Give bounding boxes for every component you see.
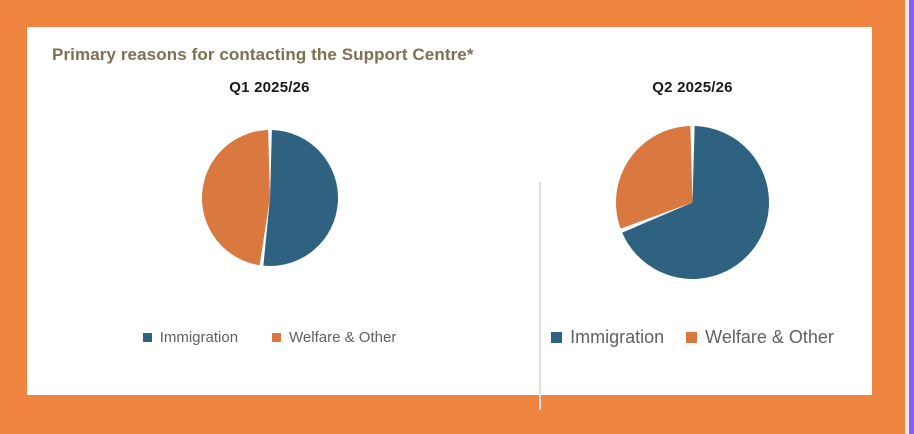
legend-label-immigration: Immigration xyxy=(160,329,238,346)
legend-label-immigration: Immigration xyxy=(570,327,664,348)
chart-title-q2: Q2 2025/26 xyxy=(513,79,872,96)
right-edge-accent-rule xyxy=(909,0,914,434)
chart-panel-q1: Q1 2025/26 Immigration Welfare & Other xyxy=(27,79,512,395)
page-title: Primary reasons for contacting the Suppo… xyxy=(52,45,474,65)
legend-swatch-immigration-icon xyxy=(143,333,152,342)
legend-item-immigration-q2[interactable]: Immigration xyxy=(551,327,664,348)
pie-wrap-q2 xyxy=(513,125,872,280)
pie-chart-q2 xyxy=(615,125,770,280)
pie-slice xyxy=(202,130,270,265)
legend-item-welfare-other-q2[interactable]: Welfare & Other xyxy=(686,327,834,348)
pie-chart-q1 xyxy=(201,129,339,267)
legend-swatch-immigration-icon xyxy=(551,332,562,343)
chart-title-q1: Q1 2025/26 xyxy=(27,79,512,96)
legend-q1: Immigration Welfare & Other xyxy=(27,329,512,346)
pie-slice xyxy=(263,130,338,266)
chart-panel-q2: Q2 2025/26 Immigration Welfare & Other xyxy=(513,79,872,395)
legend-swatch-welfare-other-icon xyxy=(686,332,697,343)
support-centre-card: Primary reasons for contacting the Suppo… xyxy=(27,27,872,395)
legend-label-welfare-other: Welfare & Other xyxy=(705,327,834,348)
legend-swatch-welfare-other-icon xyxy=(272,333,281,342)
legend-item-immigration-q1[interactable]: Immigration xyxy=(143,329,238,346)
legend-q2: Immigration Welfare & Other xyxy=(513,327,872,348)
pie-svg-q2 xyxy=(615,125,770,280)
pie-wrap-q1 xyxy=(27,129,512,267)
legend-label-welfare-other: Welfare & Other xyxy=(289,329,396,346)
pie-svg-q1 xyxy=(201,129,339,267)
legend-item-welfare-other-q1[interactable]: Welfare & Other xyxy=(272,329,396,346)
